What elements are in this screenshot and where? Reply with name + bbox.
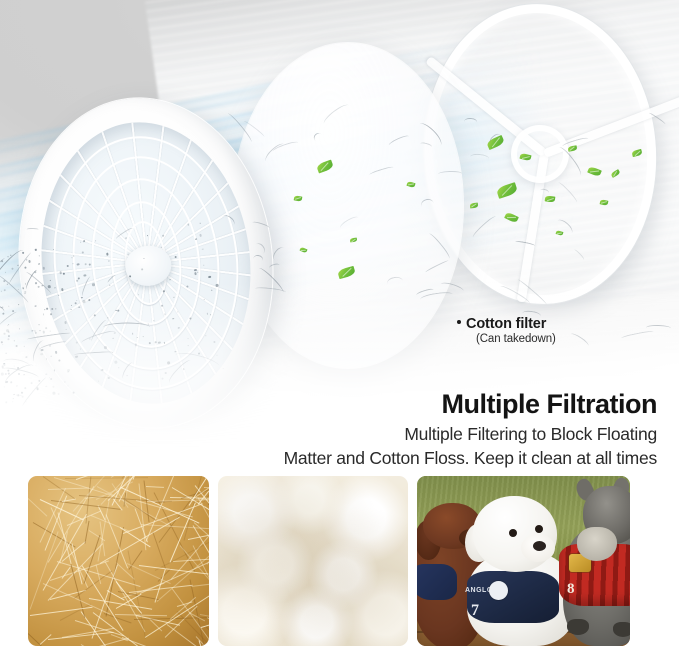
dust-speck xyxy=(49,279,50,280)
dust-speck xyxy=(76,263,79,266)
dust-speck xyxy=(129,275,131,277)
dust-speck xyxy=(169,279,170,280)
dust-speck xyxy=(62,272,64,274)
dogs-photo: ANGLC 7 8 xyxy=(417,476,630,646)
page-title: Multiple Filtration xyxy=(157,389,657,419)
bullet-icon xyxy=(457,320,461,324)
dust-speck xyxy=(108,261,109,262)
fur-strand xyxy=(85,521,90,543)
dust-speck xyxy=(127,254,128,255)
dust-speck xyxy=(95,240,96,241)
fur-strand xyxy=(81,644,140,646)
schnauzer-paw xyxy=(613,622,630,637)
dust-speck xyxy=(143,258,145,260)
dust-speck xyxy=(39,255,41,257)
fur-strand xyxy=(146,486,164,488)
dust-speck xyxy=(42,267,45,270)
callout-title: Cotton filter xyxy=(466,316,546,332)
white-bichon-jersey xyxy=(467,571,559,623)
headline-line-2: Matter and Cotton Floss. Keep it clean a… xyxy=(157,447,657,470)
schnauzer-paw xyxy=(567,619,589,635)
pet-hair-photo xyxy=(28,476,209,646)
dust-speck xyxy=(106,253,109,256)
brown-poodle-vest xyxy=(417,564,457,600)
dust-speck xyxy=(80,242,81,243)
dust-speck xyxy=(197,271,199,273)
hair-strand xyxy=(115,227,134,241)
dust-speck xyxy=(88,263,90,265)
dust-speck xyxy=(202,248,203,249)
schnauzer-beard xyxy=(577,527,617,561)
pet-hair-strands xyxy=(28,476,209,646)
hair-strand xyxy=(26,228,38,231)
fur-strand xyxy=(47,487,88,490)
dust-speck xyxy=(162,235,164,237)
dust-speck xyxy=(28,260,31,263)
headline-block: Multiple Filtration Multiple Filtering t… xyxy=(157,389,657,470)
dust-speck xyxy=(141,268,144,271)
dust-speck xyxy=(38,263,40,265)
dust-speck xyxy=(73,263,74,264)
dust-speck xyxy=(194,268,197,271)
dust-speck xyxy=(82,252,84,254)
dust-speck xyxy=(204,264,205,265)
dust-speck xyxy=(59,272,62,275)
dust-speck xyxy=(35,249,36,250)
cotton-floss-shading xyxy=(218,476,408,646)
schnauzer-jersey-number: 8 xyxy=(567,581,575,598)
dogs-scene: ANGLC 7 8 xyxy=(417,476,630,646)
fur-strand xyxy=(191,584,209,588)
dust-speck xyxy=(200,222,201,223)
dust-speck xyxy=(72,257,73,258)
dust-speck xyxy=(208,276,210,278)
cotton-floss-photo xyxy=(218,476,408,646)
callout-subtitle: (Can takedown) xyxy=(476,333,556,345)
photo-strip: ANGLC 7 8 xyxy=(0,476,679,654)
dust-speck xyxy=(187,224,189,226)
dust-speck xyxy=(174,255,177,258)
dust-speck xyxy=(195,238,197,240)
dust-speck xyxy=(147,235,148,236)
dust-speck xyxy=(199,234,202,237)
dust-speck xyxy=(194,272,196,274)
dust-speck xyxy=(73,255,75,257)
bichon-jersey-number: 7 xyxy=(471,602,479,620)
bichon-eye xyxy=(509,529,517,537)
dust-speck xyxy=(25,267,27,269)
cotton-filter-callout: Cotton filter (Can takedown) xyxy=(457,316,556,345)
dust-speck xyxy=(66,264,68,266)
dust-speck xyxy=(78,277,81,280)
dust-speck xyxy=(161,247,162,248)
headline-line-1: Multiple Filtering to Block Floating xyxy=(157,423,657,446)
product-image-canvas: Cotton filter (Can takedown) Multiple Fi… xyxy=(0,0,679,654)
dust-speck xyxy=(83,274,86,277)
dust-speck xyxy=(53,249,55,251)
dust-speck xyxy=(84,263,86,265)
dust-speck xyxy=(125,237,127,239)
white-bichon-nose xyxy=(533,541,546,551)
